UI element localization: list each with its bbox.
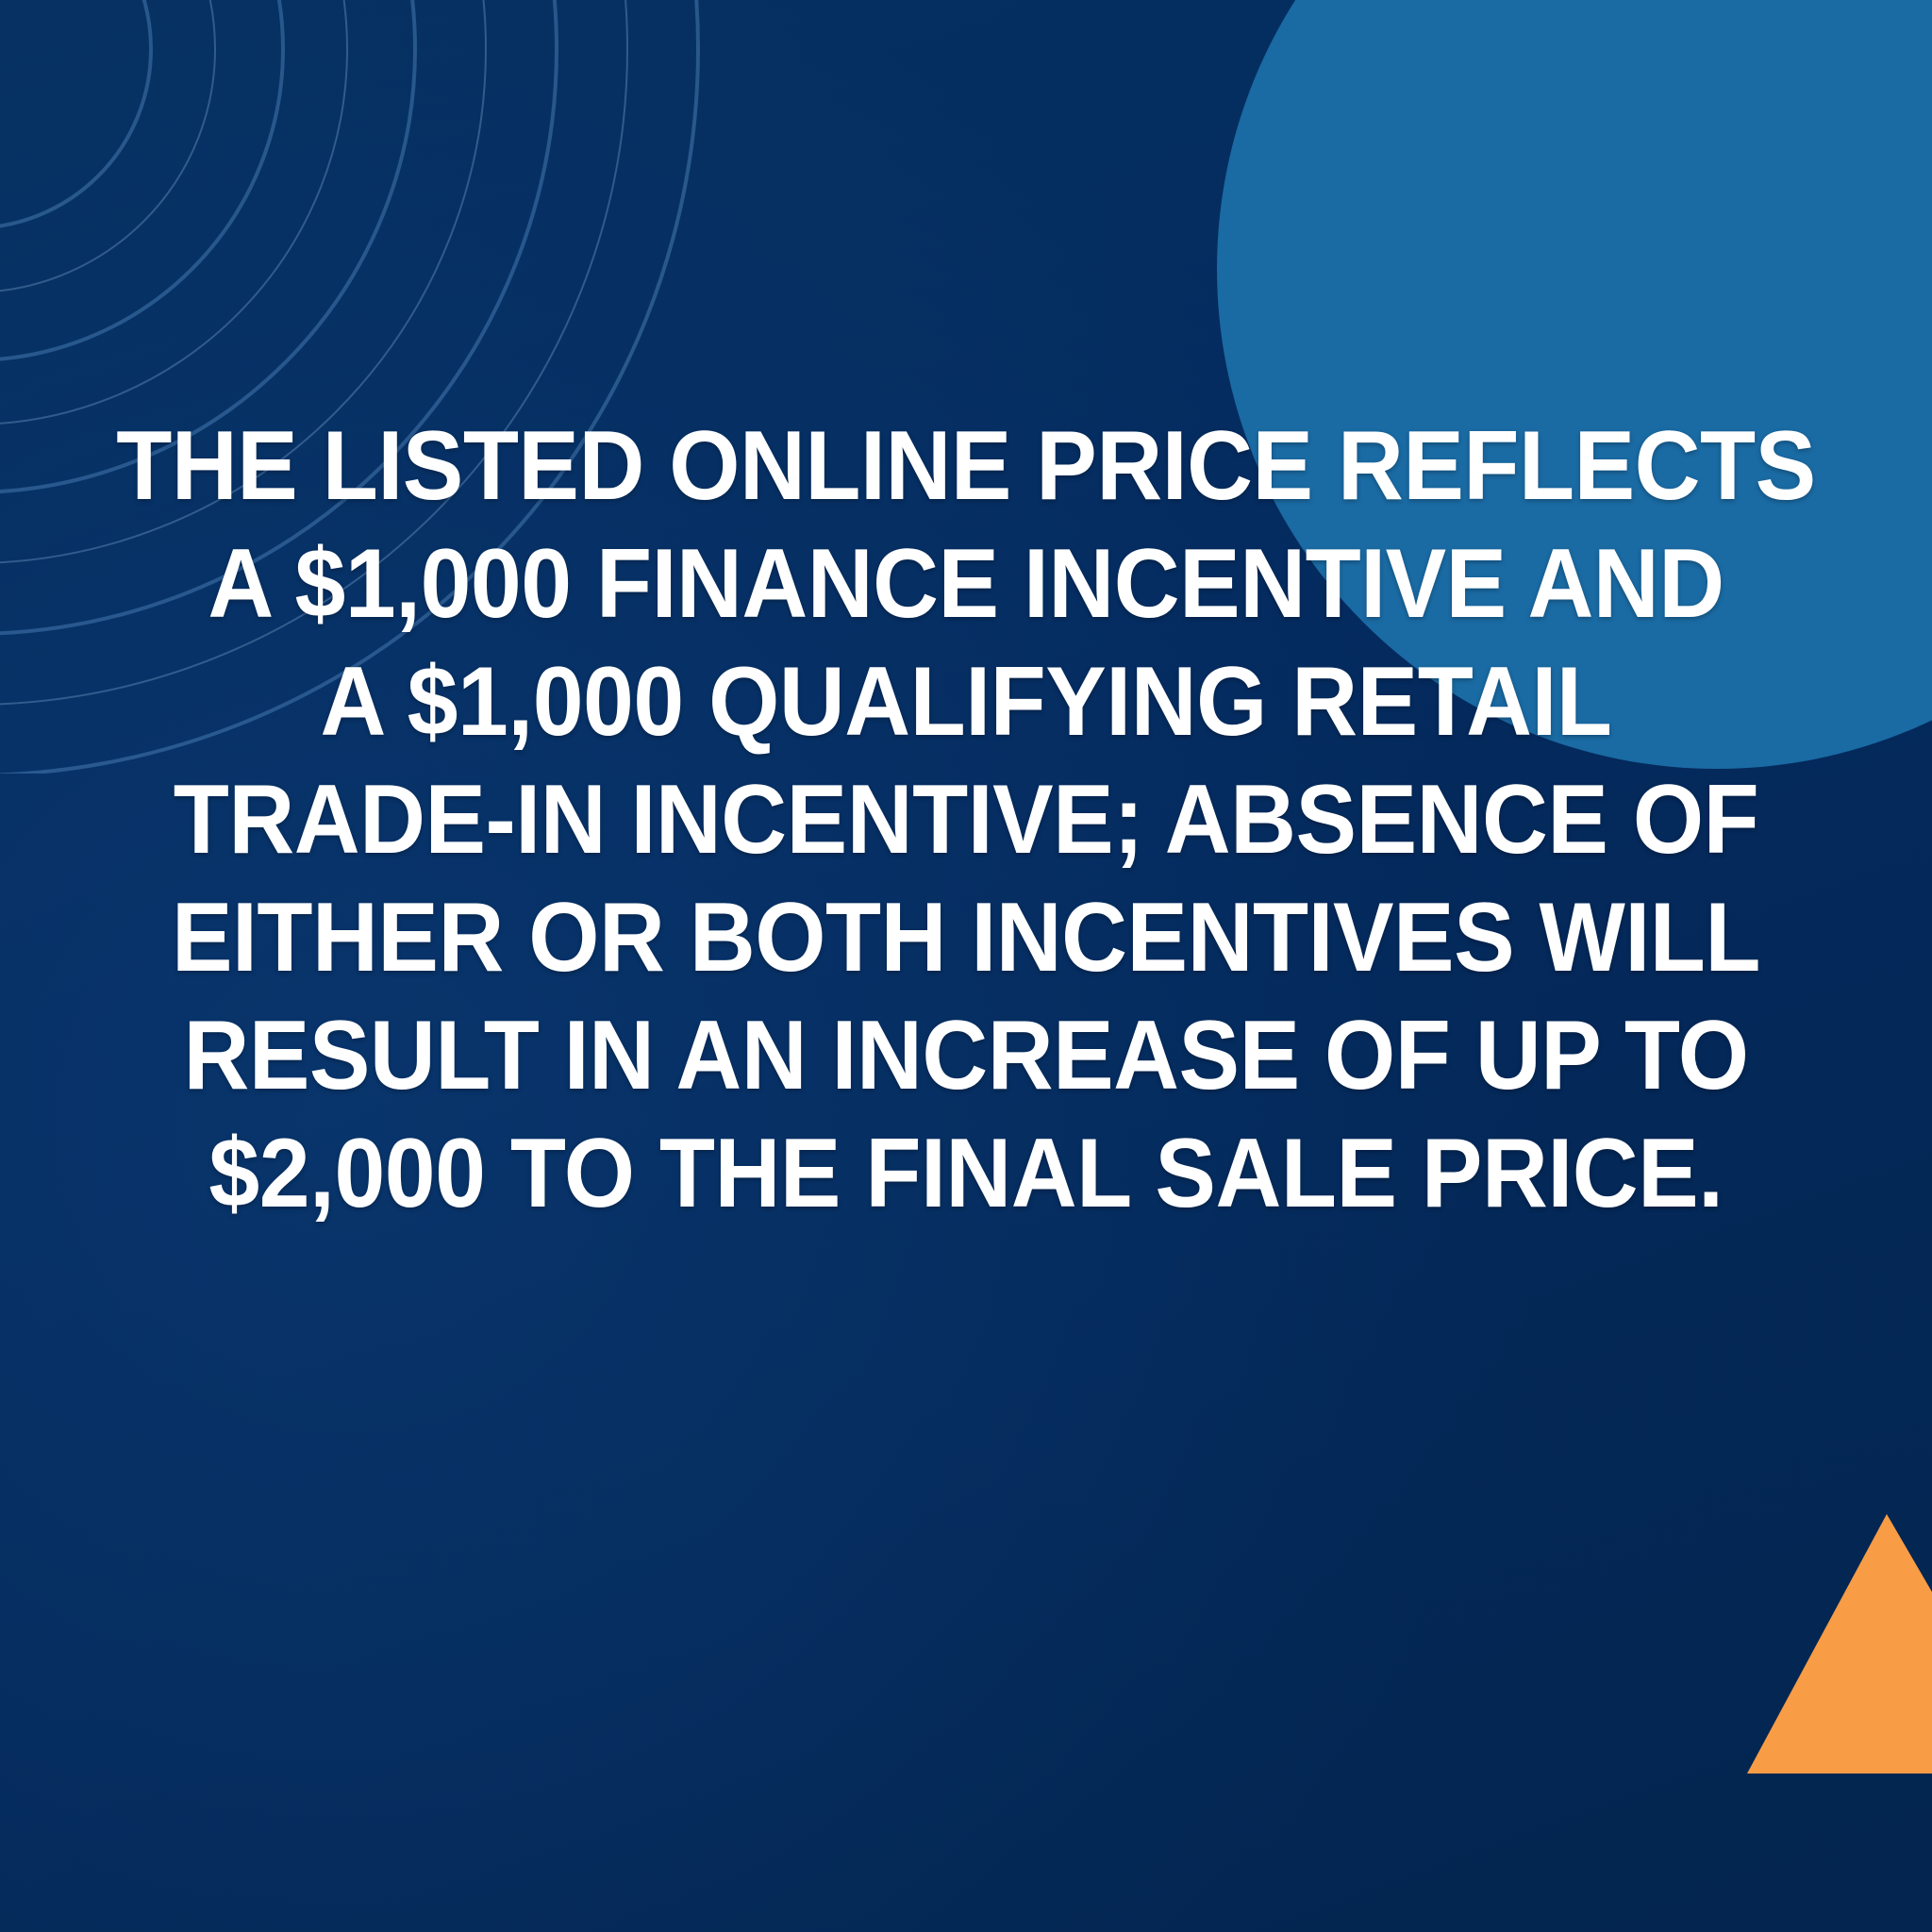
disclosure-line-1: THE LISTED ONLINE PRICE REFLECTS [42,408,1890,525]
promo-disclosure-slide: THE LISTED ONLINE PRICE REFLECTS A $1,00… [0,0,1932,1932]
disclosure-line-5: EITHER OR BOTH INCENTIVES WILL [42,879,1890,997]
disclosure-text-block: THE LISTED ONLINE PRICE REFLECTS A $1,00… [42,408,1890,1233]
disclosure-line-3: A $1,000 QUALIFYING RETAIL [42,643,1890,761]
disclosure-line-7: $2,000 TO THE FINAL SALE PRICE. [42,1115,1890,1233]
disclosure-line-2: A $1,000 FINANCE INCENTIVE AND [42,525,1890,643]
disclosure-line-6: RESULT IN AN INCREASE OF UP TO [42,997,1890,1115]
disclosure-line-4: TRADE-IN INCENTIVE; ABSENCE OF [42,761,1890,879]
orange-triangle-decoration [1747,1514,1932,1774]
